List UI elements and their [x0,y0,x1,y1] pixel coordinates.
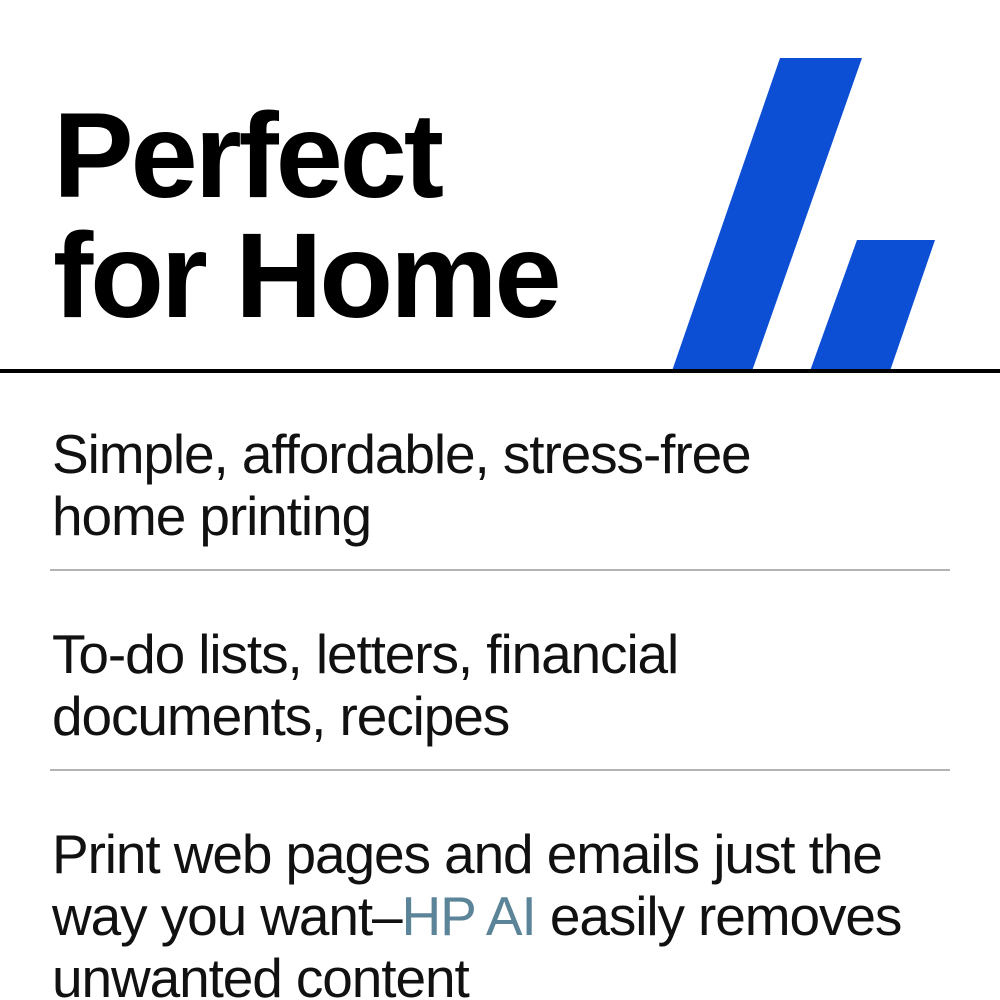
hero-section: Perfect for Home [0,0,1000,371]
feature-2-line-1: To-do lists, letters, financial [52,623,948,685]
feature-3-line-2-post: easily removes [536,885,902,947]
feature-list: Simple, affordable, stress-free home pri… [0,373,1000,1000]
feature-text-todo-lists: To-do lists, letters, financial document… [52,623,948,747]
headline-line-1: Perfect [53,96,673,214]
marketing-card: Perfect for Home Simple, affordable, str… [0,0,1000,1000]
feature-3-line-3: unwanted content [52,947,948,1000]
headline-line-2: for Home [53,216,673,334]
feature-text-simple-affordable: Simple, affordable, stress-free home pri… [52,423,948,547]
feature-3-line-1: Print web pages and emails just the [52,823,948,885]
feature-text-print-web-pages: Print web pages and emails just the way … [52,823,948,1000]
feature-2-line-2: documents, recipes [52,685,948,747]
feature-3-dash: – [372,885,402,947]
list-item: Simple, affordable, stress-free home pri… [0,373,1000,569]
hp-logo-mark-icon [650,40,980,371]
list-item: Print web pages and emails just the way … [0,771,1000,1000]
feature-1-line-1: Simple, affordable, stress-free [52,423,948,485]
list-item: To-do lists, letters, financial document… [0,571,1000,769]
feature-1-line-2: home printing [52,485,948,547]
feature-3-line-2-pre: way you want [52,885,372,947]
hp-ai-accent-label: HP AI [402,885,536,947]
page-title: Perfect for Home [53,96,673,334]
feature-3-line-2: way you want–HP AI easily removes [52,885,948,947]
